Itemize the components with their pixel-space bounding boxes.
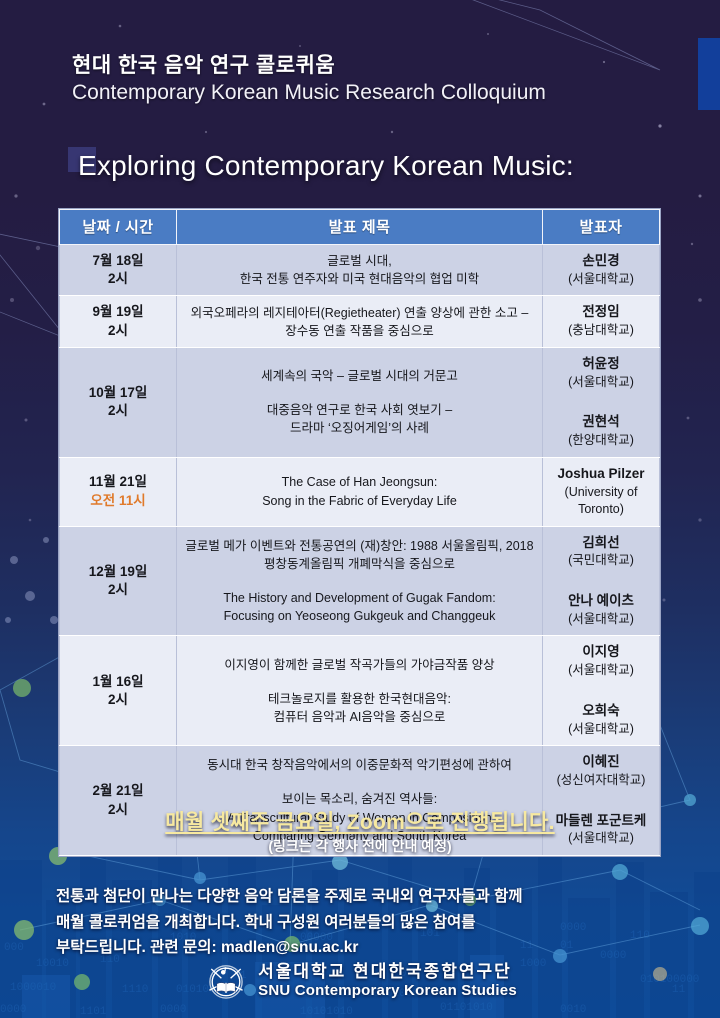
talk-title-line: 동시대 한국 창작음악에서의 이중문화적 악기편성에 관하여 <box>183 756 536 774</box>
talk-title-line: The History and Development of Gugak Fan… <box>183 589 536 607</box>
talk-title-line: 대중음악 연구로 한국 사회 엿보기 – <box>183 401 536 419</box>
title-spacer <box>183 573 536 589</box>
poster-header: 현대 한국 음악 연구 콜로퀴움 Contemporary Korean Mus… <box>72 52 672 108</box>
date-time: 2시 <box>66 402 170 420</box>
page-title: Exploring Contemporary Korean Music: <box>78 150 574 182</box>
speaker-affiliation: (충남대학교) <box>549 322 653 340</box>
talk-title-line: 컴퓨터 음악과 AI음악을 중심으로 <box>183 708 536 726</box>
speaker-affiliation: (서울대학교) <box>549 611 653 629</box>
column-header-speaker: 발표자 <box>543 210 660 245</box>
speaker-entry: 안나 예이츠(서울대학교) <box>549 592 653 628</box>
cell-speaker: 이지영(서울대학교)오희숙(서울대학교) <box>543 636 660 746</box>
talk-title-line: The Case of Han Jeongsun: <box>183 473 536 491</box>
date-day: 9월 19일 <box>66 303 170 321</box>
title-spacer <box>183 674 536 690</box>
speaker-affiliation: (서울대학교) <box>549 374 653 392</box>
talk-title-line: 글로벌 시대, <box>183 252 536 270</box>
cell-title: 외국오페라의 레지테아터(Regietheater) 연출 양상에 관한 소고 … <box>177 296 543 347</box>
cell-date: 7월 18일2시 <box>60 245 177 296</box>
cell-title: 글로벌 시대,한국 전통 연주자와 미국 현대음악의 협업 미학 <box>177 245 543 296</box>
speaker-entry: 오희숙(서울대학교) <box>549 702 653 738</box>
date-day: 7월 18일 <box>66 252 170 270</box>
speaker-name: 이지영 <box>549 643 653 662</box>
talk-title: 외국오페라의 레지테아터(Regietheater) 연출 양상에 관한 소고 … <box>183 304 536 340</box>
speaker-entry: 권현석(한양대학교) <box>549 413 653 449</box>
speaker-name: 김희선 <box>549 534 653 553</box>
cell-title: 글로벌 메가 이벤트와 전통공연의 (재)창안: 1988 서울올림픽, 201… <box>177 526 543 636</box>
svg-text:000: 000 <box>4 942 24 954</box>
schedule-table: 날짜 / 시간 발표 제목 발표자 7월 18일2시글로벌 시대,한국 전통 연… <box>59 209 660 856</box>
description-blurb: 전통과 첨단이 만나는 다양한 음악 담론을 주제로 국내외 연구자들과 함께 … <box>56 884 676 961</box>
cell-speaker: 김희선(국민대학교)안나 예이츠(서울대학교) <box>543 526 660 636</box>
poster-canvas: 00010010110 101000000101 11011000010 111… <box>0 0 720 1018</box>
speaker-affiliation: (서울대학교) <box>549 271 653 289</box>
column-header-title: 발표 제목 <box>177 210 543 245</box>
date-time: 오전 11시 <box>66 492 170 510</box>
speaker-affiliation: (서울대학교) <box>549 662 653 680</box>
svg-text:0010: 0010 <box>560 1004 586 1016</box>
zoom-notice: 매월 셋째주 금요일, Zoom으로 진행됩니다. <box>0 806 720 836</box>
footer-text: 서울대학교 현대한국종합연구단 SNU Contemporary Korean … <box>258 962 517 1000</box>
svg-text:1101: 1101 <box>80 1006 107 1018</box>
title-spacer <box>183 774 536 790</box>
blurb-line-2: 매월 콜로퀴엄을 개최합니다. 학내 구성원 여러분들의 많은 참여를 <box>56 910 676 936</box>
svg-text:10101010: 10101010 <box>300 1006 353 1018</box>
footer-org-korean: 서울대학교 현대한국종합연구단 <box>258 962 517 982</box>
blurb-line-1: 전통과 첨단이 만나는 다양한 음악 담론을 주제로 국내외 연구자들과 함께 <box>56 884 676 910</box>
speaker-entry: 전정임(충남대학교) <box>549 303 653 339</box>
table-row: 10월 17일2시세계속의 국악 – 글로벌 시대의 거문고대중음악 연구로 한… <box>60 347 660 457</box>
date-day: 10월 17일 <box>66 384 170 402</box>
talk-title: 글로벌 시대,한국 전통 연주자와 미국 현대음악의 협업 미학 <box>183 252 536 288</box>
speaker-entry: 이혜진(성신여자대학교) <box>549 753 653 789</box>
series-title-korean: 현대 한국 음악 연구 콜로퀴움 <box>72 52 672 79</box>
speaker-name: 전정임 <box>549 303 653 322</box>
contact-label: 부탁드립니다. 관련 문의: <box>56 939 221 956</box>
speaker-entry: 김희선(국민대학교) <box>549 534 653 570</box>
cell-title: The Case of Han Jeongsun:Song in the Fab… <box>177 457 543 526</box>
date-time: 2시 <box>66 322 170 340</box>
talk-title: The History and Development of Gugak Fan… <box>183 589 536 625</box>
talk-title: 동시대 한국 창작음악에서의 이중문화적 악기편성에 관하여 <box>183 756 536 774</box>
speaker-entry: 손민경(서울대학교) <box>549 252 653 288</box>
date-day: 12월 19일 <box>66 563 170 581</box>
accent-block-top-right <box>698 38 720 110</box>
series-title-english: Contemporary Korean Music Research Collo… <box>72 79 672 107</box>
speaker-spacer <box>549 570 653 592</box>
speaker-name: 이혜진 <box>549 753 653 772</box>
cell-speaker: 손민경(서울대학교) <box>543 245 660 296</box>
speaker-name: 오희숙 <box>549 702 653 721</box>
date-day: 1월 16일 <box>66 673 170 691</box>
table-row: 1월 16일2시이지영이 함께한 글로벌 작곡가들의 가야금작품 양상테크놀로지… <box>60 636 660 746</box>
talk-title-line: 테크놀로지를 활용한 한국현대음악: <box>183 690 536 708</box>
speaker-affiliation: (서울대학교) <box>549 721 653 739</box>
svg-text:0000: 0000 <box>160 1004 186 1016</box>
talk-title: 테크놀로지를 활용한 한국현대음악:컴퓨터 음악과 AI음악을 중심으로 <box>183 690 536 726</box>
column-header-date: 날짜 / 시간 <box>60 210 177 245</box>
speaker-entry: 이지영(서울대학교) <box>549 643 653 679</box>
footer: 서울대학교 현대한국종합연구단 SNU Contemporary Korean … <box>0 958 720 1004</box>
blurb-line-3: 부탁드립니다. 관련 문의: madlen@snu.ac.kr <box>56 935 676 961</box>
table-row: 9월 19일2시외국오페라의 레지테아터(Regietheater) 연출 양상… <box>60 296 660 347</box>
talk-title: 이지영이 함께한 글로벌 작곡가들의 가야금작품 양상 <box>183 656 536 674</box>
speaker-name: 안나 예이츠 <box>549 592 653 611</box>
talk-title: The Case of Han Jeongsun:Song in the Fab… <box>183 473 536 509</box>
talk-title: 세계속의 국악 – 글로벌 시대의 거문고 <box>183 367 536 385</box>
talk-title-line: 세계속의 국악 – 글로벌 시대의 거문고 <box>183 367 536 385</box>
talk-title-line: 평창동계올림픽 개폐막식을 중심으로 <box>183 555 536 573</box>
title-spacer <box>183 385 536 401</box>
schedule-table-body: 7월 18일2시글로벌 시대,한국 전통 연주자와 미국 현대음악의 협업 미학… <box>60 245 660 856</box>
speaker-affiliation: (한양대학교) <box>549 432 653 450</box>
talk-title-line: 드라마 ‘오징어게임’의 사례 <box>183 419 536 437</box>
cell-title: 이지영이 함께한 글로벌 작곡가들의 가야금작품 양상테크놀로지를 활용한 한국… <box>177 636 543 746</box>
talk-title-line: 한국 전통 연주자와 미국 현대음악의 협업 미학 <box>183 270 536 288</box>
talk-title-line: 이지영이 함께한 글로벌 작곡가들의 가야금작품 양상 <box>183 656 536 674</box>
table-header-row: 날짜 / 시간 발표 제목 발표자 <box>60 210 660 245</box>
cell-date: 11월 21일오전 11시 <box>60 457 177 526</box>
talk-title-line: 장수동 연출 작품을 중심으로 <box>183 322 536 340</box>
cell-title: 세계속의 국악 – 글로벌 시대의 거문고대중음악 연구로 한국 사회 엿보기 … <box>177 347 543 457</box>
speaker-spacer <box>549 680 653 702</box>
cell-speaker: 허윤정(서울대학교)권현석(한양대학교) <box>543 347 660 457</box>
date-day: 2월 21일 <box>66 782 170 800</box>
date-time: 2시 <box>66 270 170 288</box>
talk-title-line: Song in the Fabric of Everyday Life <box>183 492 536 510</box>
speaker-name: 권현석 <box>549 413 653 432</box>
date-time: 2시 <box>66 581 170 599</box>
table-row: 7월 18일2시글로벌 시대,한국 전통 연주자와 미국 현대음악의 협업 미학… <box>60 245 660 296</box>
speaker-name: Joshua Pilzer <box>549 465 653 484</box>
cell-date: 12월 19일2시 <box>60 526 177 636</box>
speaker-name: 허윤정 <box>549 355 653 374</box>
speaker-affiliation: (국민대학교) <box>549 552 653 570</box>
contact-email[interactable]: madlen@snu.ac.kr <box>221 939 358 956</box>
talk-title-line: Focusing on Yeoseong Gukgeuk and Changge… <box>183 607 536 625</box>
cell-date: 10월 17일2시 <box>60 347 177 457</box>
speaker-entry: 허윤정(서울대학교) <box>549 355 653 391</box>
speaker-affiliation: (University of Toronto) <box>549 484 653 519</box>
speaker-name: 손민경 <box>549 252 653 271</box>
date-time: 2시 <box>66 691 170 709</box>
snu-emblem-icon <box>203 958 249 1004</box>
zoom-notice-sub: (링크는 각 행사 전에 안내 예정) <box>0 836 720 856</box>
svg-text:0000: 0000 <box>0 1004 26 1016</box>
table-row: 12월 19일2시글로벌 메가 이벤트와 전통공연의 (재)창안: 1988 서… <box>60 526 660 636</box>
cell-speaker: 전정임(충남대학교) <box>543 296 660 347</box>
speaker-spacer <box>549 391 653 413</box>
cell-date: 9월 19일2시 <box>60 296 177 347</box>
date-day: 11월 21일 <box>66 473 170 491</box>
cell-date: 1월 16일2시 <box>60 636 177 746</box>
footer-org-english: SNU Contemporary Korean Studies <box>258 982 517 1000</box>
table-row: 11월 21일오전 11시The Case of Han Jeongsun:So… <box>60 457 660 526</box>
speaker-entry: Joshua Pilzer(University of Toronto) <box>549 465 653 519</box>
cell-speaker: Joshua Pilzer(University of Toronto) <box>543 457 660 526</box>
talk-title-line: 글로벌 메가 이벤트와 전통공연의 (재)창안: 1988 서울올림픽, 201… <box>183 537 536 555</box>
talk-title-line: 외국오페라의 레지테아터(Regietheater) 연출 양상에 관한 소고 … <box>183 304 536 322</box>
talk-title: 글로벌 메가 이벤트와 전통공연의 (재)창안: 1988 서울올림픽, 201… <box>183 537 536 573</box>
speaker-affiliation: (성신여자대학교) <box>549 772 653 790</box>
talk-title: 대중음악 연구로 한국 사회 엿보기 –드라마 ‘오징어게임’의 사례 <box>183 401 536 437</box>
